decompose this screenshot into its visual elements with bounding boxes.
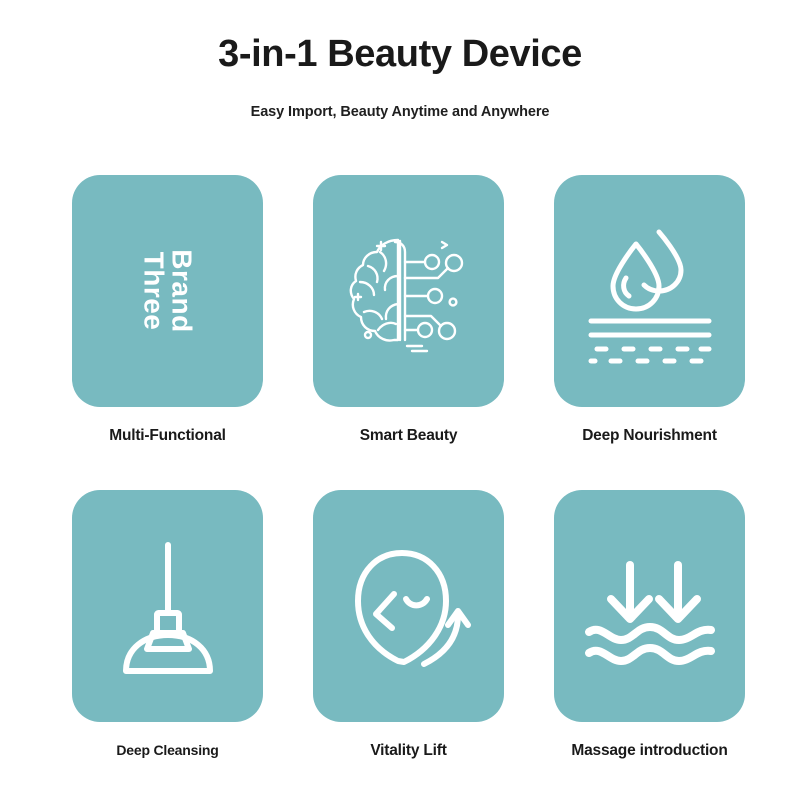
brain-circuit-icon [334,216,484,366]
feature-label-massage-introduction: Massage introduction [571,742,727,760]
feature-card-grid: Brand Three Multi-Functional [72,175,728,760]
feature-cell-vitality-lift[interactable]: Vitality Lift [313,490,504,760]
feature-card-smart-beauty[interactable] [313,175,504,407]
feature-cell-deep-nourishment[interactable]: Deep Nourishment [554,175,745,445]
feature-label-deep-nourishment: Deep Nourishment [582,427,717,445]
brand-line-one: Brand [168,249,196,332]
feature-cell-smart-beauty[interactable]: Smart Beauty [313,175,504,445]
page-header: 3-in-1 Beauty Device Easy Import, Beauty… [0,0,800,120]
water-droplets-skin-layers-icon [575,216,725,366]
page-title: 3-in-1 Beauty Device [0,34,800,76]
feature-card-deep-cleansing[interactable] [72,490,263,722]
brand-line-two: Three [140,252,168,331]
feature-card-massage-introduction[interactable] [554,490,745,722]
feature-label-multi-functional: Multi-Functional [109,427,225,445]
feature-cell-multi-functional[interactable]: Brand Three Multi-Functional [72,175,263,445]
suction-plunger-icon [93,531,243,681]
product-feature-page: 3-in-1 Beauty Device Easy Import, Beauty… [0,0,800,800]
face-lift-arrow-icon [334,531,484,681]
feature-label-deep-cleansing: Deep Cleansing [116,742,218,758]
feature-card-vitality-lift[interactable] [313,490,504,722]
down-arrows-waves-icon [575,531,725,681]
feature-card-deep-nourishment[interactable] [554,175,745,407]
feature-label-smart-beauty: Smart Beauty [360,427,458,445]
feature-card-multi-functional[interactable]: Brand Three [72,175,263,407]
feature-cell-deep-cleansing[interactable]: Deep Cleansing [72,490,263,760]
page-subtitle: Easy Import, Beauty Anytime and Anywhere [0,76,800,120]
brand-text-icon: Brand Three [140,249,196,332]
feature-cell-massage-introduction[interactable]: Massage introduction [554,490,745,760]
feature-label-vitality-lift: Vitality Lift [370,742,446,760]
